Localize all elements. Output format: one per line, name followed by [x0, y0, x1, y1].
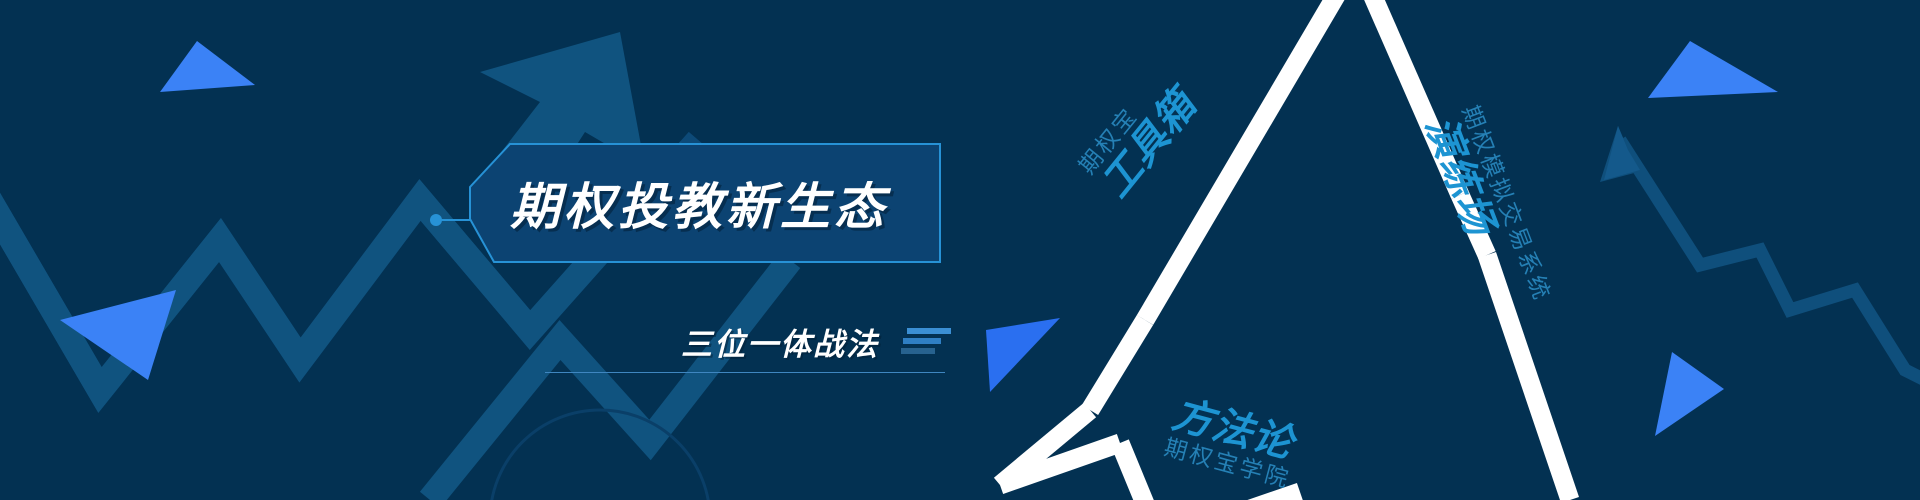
zigzag-down-arrow-icon — [1600, 126, 1920, 380]
triangle-accent-center-bottom — [986, 318, 1060, 392]
triangle-accent-top-left — [160, 41, 255, 92]
subtitle-divider — [545, 372, 945, 373]
subtitle-row: 三位一体战法 — [545, 318, 945, 364]
triangle-accent-bottom-right — [1655, 352, 1724, 436]
zigzag-up-arrow-tail-icon — [430, 260, 790, 500]
three-bars-icon — [901, 328, 945, 354]
promo-banner: 期权投教新生态 三位一体战法 期权宝 工具箱 期权模拟交易系统 演练场 方法论 … — [0, 0, 1920, 500]
subtitle: 三位一体战法 — [681, 319, 879, 364]
background-decoration — [0, 0, 1920, 500]
triangle-accent-top-right — [1648, 41, 1778, 98]
page-title: 期权投教新生态 — [510, 144, 940, 262]
page-title-plaque: 期权投教新生态 — [470, 144, 940, 262]
